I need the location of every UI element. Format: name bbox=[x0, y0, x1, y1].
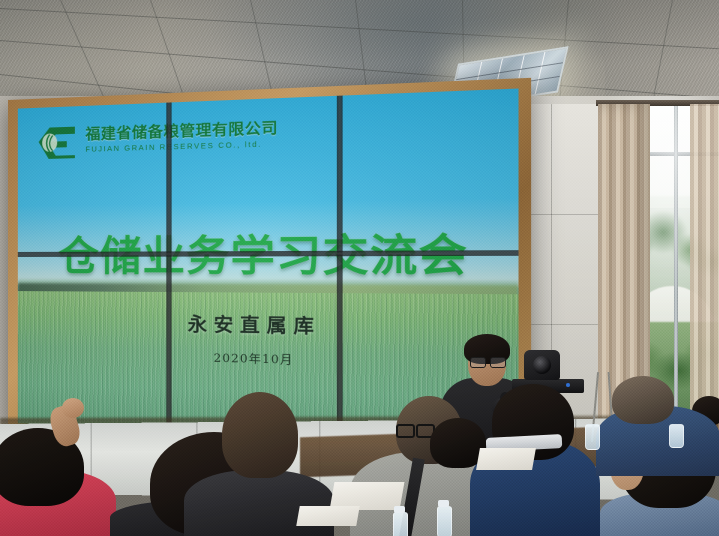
document bbox=[296, 506, 360, 526]
audience-glasses bbox=[396, 424, 430, 434]
bottle-cap bbox=[394, 506, 405, 513]
water-bottle bbox=[669, 424, 684, 448]
window-mullion bbox=[674, 100, 678, 430]
slide-vignette bbox=[18, 89, 519, 444]
video-wall-bezel bbox=[166, 102, 171, 429]
camera-lens-icon bbox=[533, 356, 551, 374]
conference-room-photo: 福建省储备粮管理有限公司 FUJIAN GRAIN RESERVES CO., … bbox=[0, 0, 719, 536]
water-bottle bbox=[585, 424, 600, 450]
document bbox=[476, 448, 536, 470]
speaker-glasses bbox=[470, 357, 504, 366]
curtain-right bbox=[690, 104, 719, 434]
video-wall-bezel bbox=[18, 250, 519, 257]
video-wall-bezel bbox=[337, 96, 343, 437]
water-bottle bbox=[437, 506, 452, 536]
audience-hand bbox=[62, 398, 84, 418]
bottle-cap bbox=[438, 500, 449, 507]
camera-led-icon bbox=[566, 383, 570, 387]
water-bottle bbox=[393, 512, 408, 536]
video-wall-screen[interactable]: 福建省储备粮管理有限公司 FUJIAN GRAIN RESERVES CO., … bbox=[18, 89, 519, 444]
